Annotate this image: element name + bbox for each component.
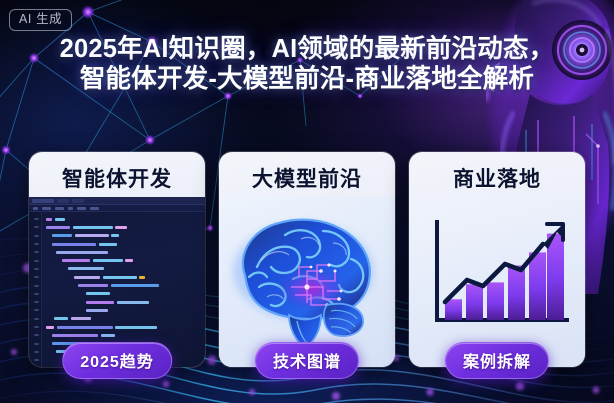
title-line-1: 2025年AI知识圈，AI领域的最新前沿动态， [14,34,600,64]
ide-tab [72,199,84,203]
ide-menu-item [42,207,51,210]
card-inner: 商业落地 [409,152,585,367]
card-title-agent-development: 智能体开发 [29,152,205,193]
card-agent-development[interactable]: 智能体开发 [29,152,205,367]
pill-2025-trend[interactable]: 2025趋势 [62,342,172,379]
title-line-2: 智能体开发-大模型前沿-商业落地全解析 [14,64,600,94]
card-business-implementation[interactable]: 商业落地 [409,152,585,367]
page-title: 2025年AI知识圈，AI领域的最新前沿动态， 智能体开发-大模型前沿-商业落地… [0,34,614,94]
ide-menu-item [55,207,64,210]
ide-line-numbers [29,212,42,367]
card-row: 智能体开发 [0,152,614,367]
pill-tech-map[interactable]: 技术图谱 [255,342,359,379]
card-title-large-model-frontier: 大模型前沿 [219,152,395,193]
poster-canvas: AI 生成 2025年AI知识圈，AI领域的最新前沿动态， 智能体开发-大模型前… [0,0,614,403]
brain-icon [223,209,391,349]
ide-menu-item [68,207,73,210]
pill-case-study[interactable]: 案例拆解 [445,342,549,379]
ai-generated-badge: AI 生成 [9,9,72,31]
ide-tabbar [29,197,205,205]
card-title-business-implementation: 商业落地 [409,152,585,193]
growth-chart [421,216,573,334]
ide-tab [32,199,54,203]
card-large-model-frontier[interactable]: 大模型前沿 [219,152,395,367]
ide-menubar [29,205,205,212]
ide-menu-item [77,207,86,210]
ide-menu-item [90,207,99,210]
card-inner: 智能体开发 [29,152,205,367]
card-inner: 大模型前沿 [219,152,395,367]
ide-tab [57,199,69,203]
ide-menu-item [33,207,38,210]
